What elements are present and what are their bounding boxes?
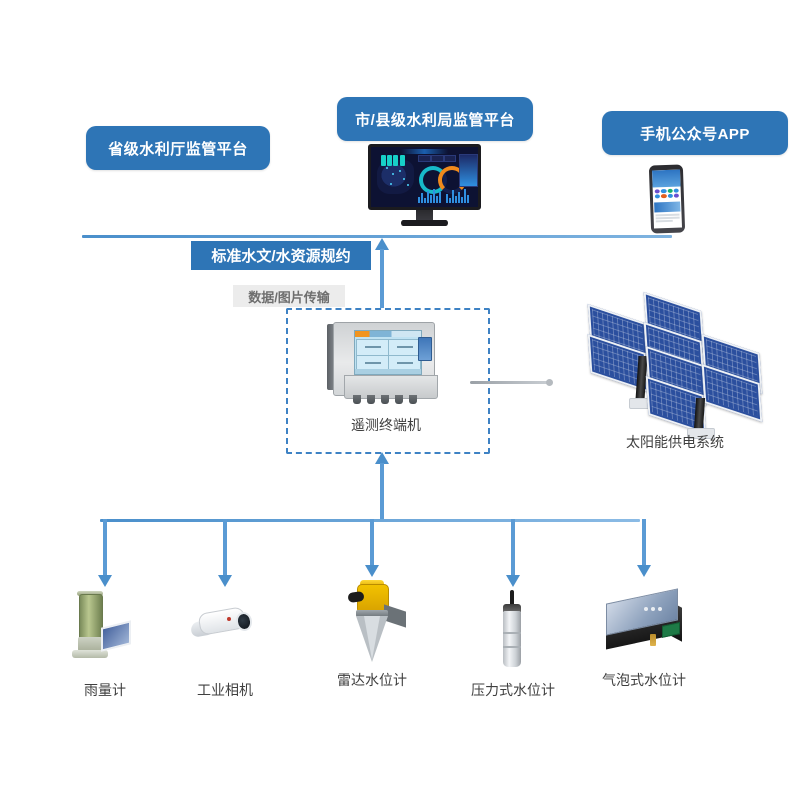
phone-app-header [652,170,681,188]
sensor-label-rain-gauge: 雨量计 [45,680,165,700]
arrow-bus-to-radar-level [362,519,382,577]
sensor-bubbler-level[interactable]: 气泡式水位计 [584,578,704,690]
platform-label-provincial: 省级水利厅监管平台 [108,138,248,159]
desktop-monitor [368,144,481,228]
mobile-phone [649,164,685,233]
sensor-radar-level[interactable]: 雷达水位计 [312,578,432,690]
rtu-enclosure-body [333,322,435,396]
sensor-label-industrial-camera: 工业相机 [165,680,285,700]
platform-pill-city-county[interactable]: 市/县级水利局监管平台 [337,97,533,141]
data-transfer-text: 数据/图片传输 [248,287,330,306]
rain-gauge-icon [45,588,165,680]
sensor-rain-gauge[interactable]: 雨量计 [45,588,165,700]
rtu-screen-statusbar [355,369,421,374]
sensor-label-bubbler-level: 气泡式水位计 [584,670,704,690]
phone-banner [654,202,680,212]
rtu-cell-rainfall [356,339,389,356]
bubbler-level-icon [584,578,704,670]
monitor-dashboard-screen [371,147,478,207]
rtu-caption: 遥测终端机 [286,415,486,435]
protocol-standard-label: 标准水文/水资源规约 [191,241,371,270]
rtu-terminal-device [327,322,445,408]
phone-screen [652,170,682,229]
sensor-label-radar-level: 雷达水位计 [312,670,432,690]
platform-pill-provincial[interactable]: 省级水利厅监管平台 [86,126,270,170]
rtu-screen-titlebar [355,331,421,337]
radar-level-icon [312,578,432,670]
platform-label-city-county: 市/县级水利局监管平台 [355,109,515,130]
platform-pill-mobile-app[interactable]: 手机公众号APP [602,111,788,155]
platform-label-mobile-app: 手机公众号APP [640,123,750,144]
protocol-standard-text: 标准水文/水资源规约 [211,245,350,266]
rtu-cell-waterlevel [388,339,421,356]
dashboard-title-bar [401,149,448,154]
arrow-bus-to-rain-gauge [95,519,115,587]
rtu-antenna [470,381,550,384]
arrow-sensors-to-rtu [372,452,392,520]
phone-icon-grid [653,187,681,201]
sensor-pressure-level[interactable]: 压力式水位计 [453,588,573,700]
diagram-canvas: 省级水利厅监管平台 市/县级水利局监管平台 手机公众号APP [0,0,800,800]
monitor-base [401,220,448,226]
sensor-label-pressure-level: 压力式水位计 [453,680,573,700]
arrow-bus-to-pressure-level [503,519,523,587]
arrow-bus-to-camera [215,519,235,587]
solar-power-system [585,300,765,430]
arrow-rtu-to-platform [372,238,392,308]
pressure-level-icon [453,588,573,680]
monitor-bezel [368,144,481,210]
camera-icon [165,588,285,680]
arrow-bus-to-bubbler-level [634,519,654,577]
rtu-lcd-screen[interactable] [354,330,422,375]
solar-power-caption: 太阳能供电系统 [585,432,765,452]
sensor-industrial-camera[interactable]: 工业相机 [165,588,285,700]
rtu-connector-port [418,337,432,361]
data-transfer-label: 数据/图片传输 [233,285,345,307]
